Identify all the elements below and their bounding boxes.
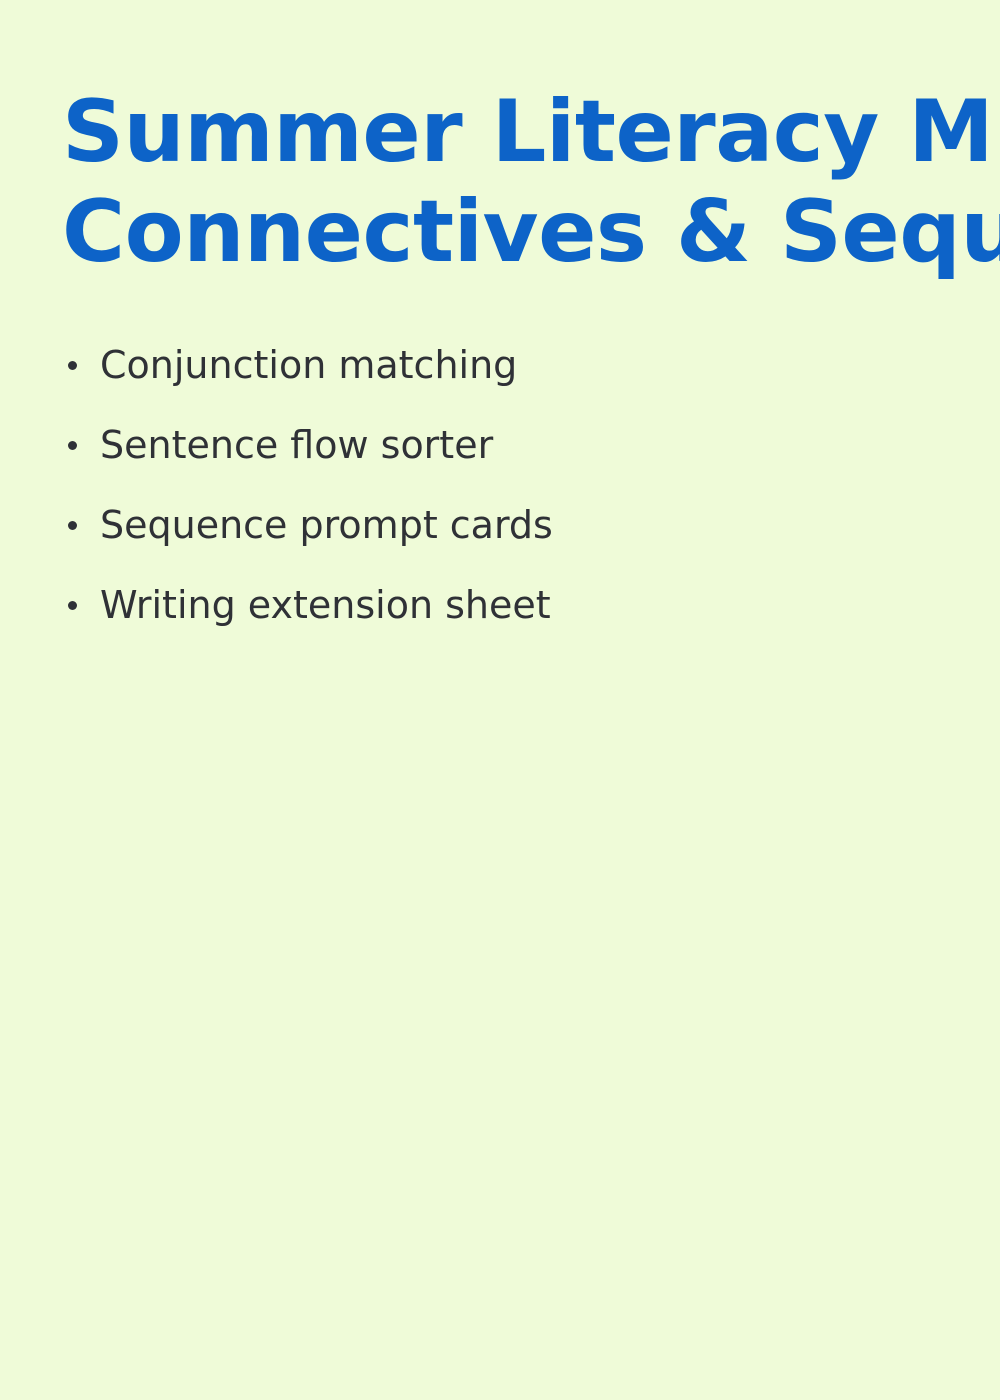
list-item-label: Conjunction matching [100, 332, 517, 398]
bullet-icon [68, 521, 77, 530]
bullet-icon [68, 441, 77, 450]
page-title-line-2: Connectives & Sequencing [62, 182, 1000, 282]
list-item: Sequence prompt cards [62, 492, 962, 572]
bullet-icon [68, 361, 77, 370]
feature-list: Conjunction matching Sentence flow sorte… [62, 332, 962, 652]
list-item-label: Sequence prompt cards [100, 492, 553, 558]
page-title-line-1: Summer Literacy Mini-Pack: [62, 82, 1000, 182]
list-item: Sentence flow sorter [62, 412, 962, 492]
list-item-label: Writing extension sheet [100, 572, 551, 638]
bullet-icon [68, 601, 77, 610]
list-item: Conjunction matching [62, 332, 962, 412]
page-title: Summer Literacy Mini-Pack: Connectives &… [62, 82, 1000, 282]
list-item-label: Sentence flow sorter [100, 412, 493, 478]
slide-canvas: Summer Literacy Mini-Pack: Connectives &… [0, 0, 1000, 1400]
list-item: Writing extension sheet [62, 572, 962, 652]
